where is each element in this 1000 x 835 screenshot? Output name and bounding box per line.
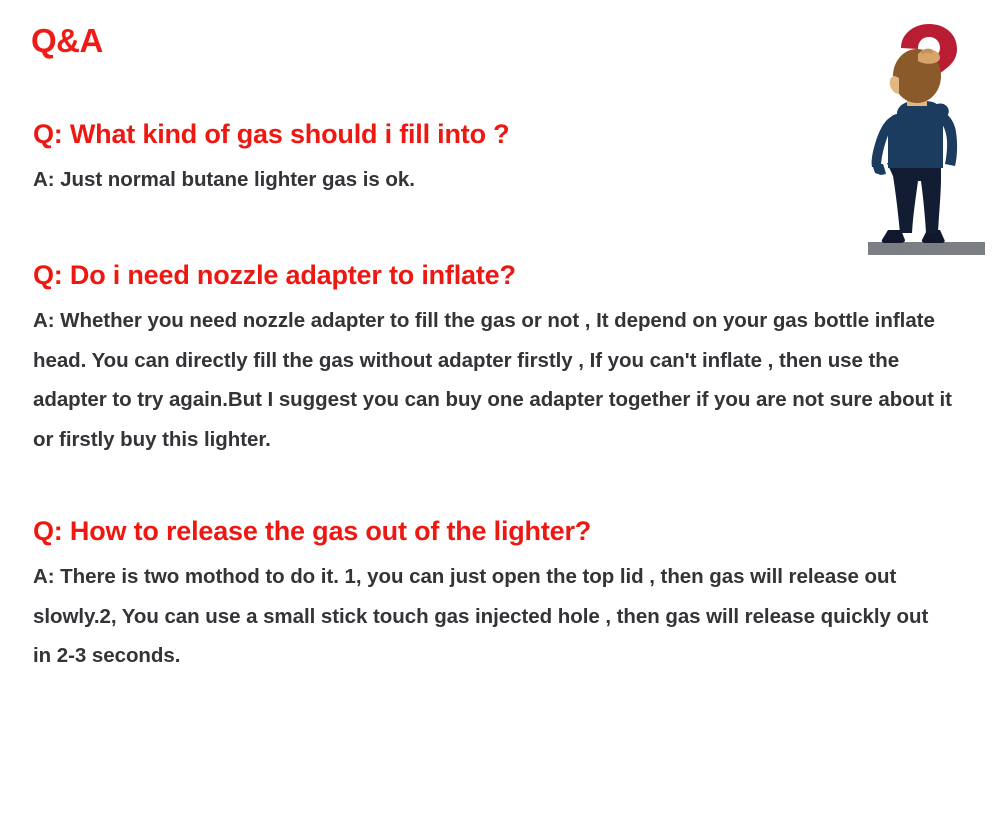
faq-item-2: Q: Do i need nozzle adapter to inflate? … <box>33 259 953 459</box>
confused-person-illustration <box>855 18 995 268</box>
faq-answer-2: A: Whether you need nozzle adapter to fi… <box>33 301 953 459</box>
faq-answer-1: A: Just normal butane lighter gas is ok. <box>33 160 953 200</box>
page-title: Q&A <box>31 23 103 59</box>
faq-answer-3: A: There is two mothod to do it. 1, you … <box>33 557 943 676</box>
ground-platform <box>868 242 985 255</box>
faq-question-2: Q: Do i need nozzle adapter to inflate? <box>33 259 953 293</box>
faq-question-1: Q: What kind of gas should i fill into ? <box>33 118 953 152</box>
faq-item-3: Q: How to release the gas out of the lig… <box>33 515 953 675</box>
faq-list: Q: What kind of gas should i fill into ?… <box>33 118 953 676</box>
faq-page: Q&A Q: What kind of gas should i fill in… <box>0 0 1000 835</box>
pants <box>887 163 941 233</box>
faq-item-1: Q: What kind of gas should i fill into ?… <box>33 118 953 199</box>
faq-question-3: Q: How to release the gas out of the lig… <box>33 515 953 549</box>
hand-on-head <box>918 49 940 64</box>
